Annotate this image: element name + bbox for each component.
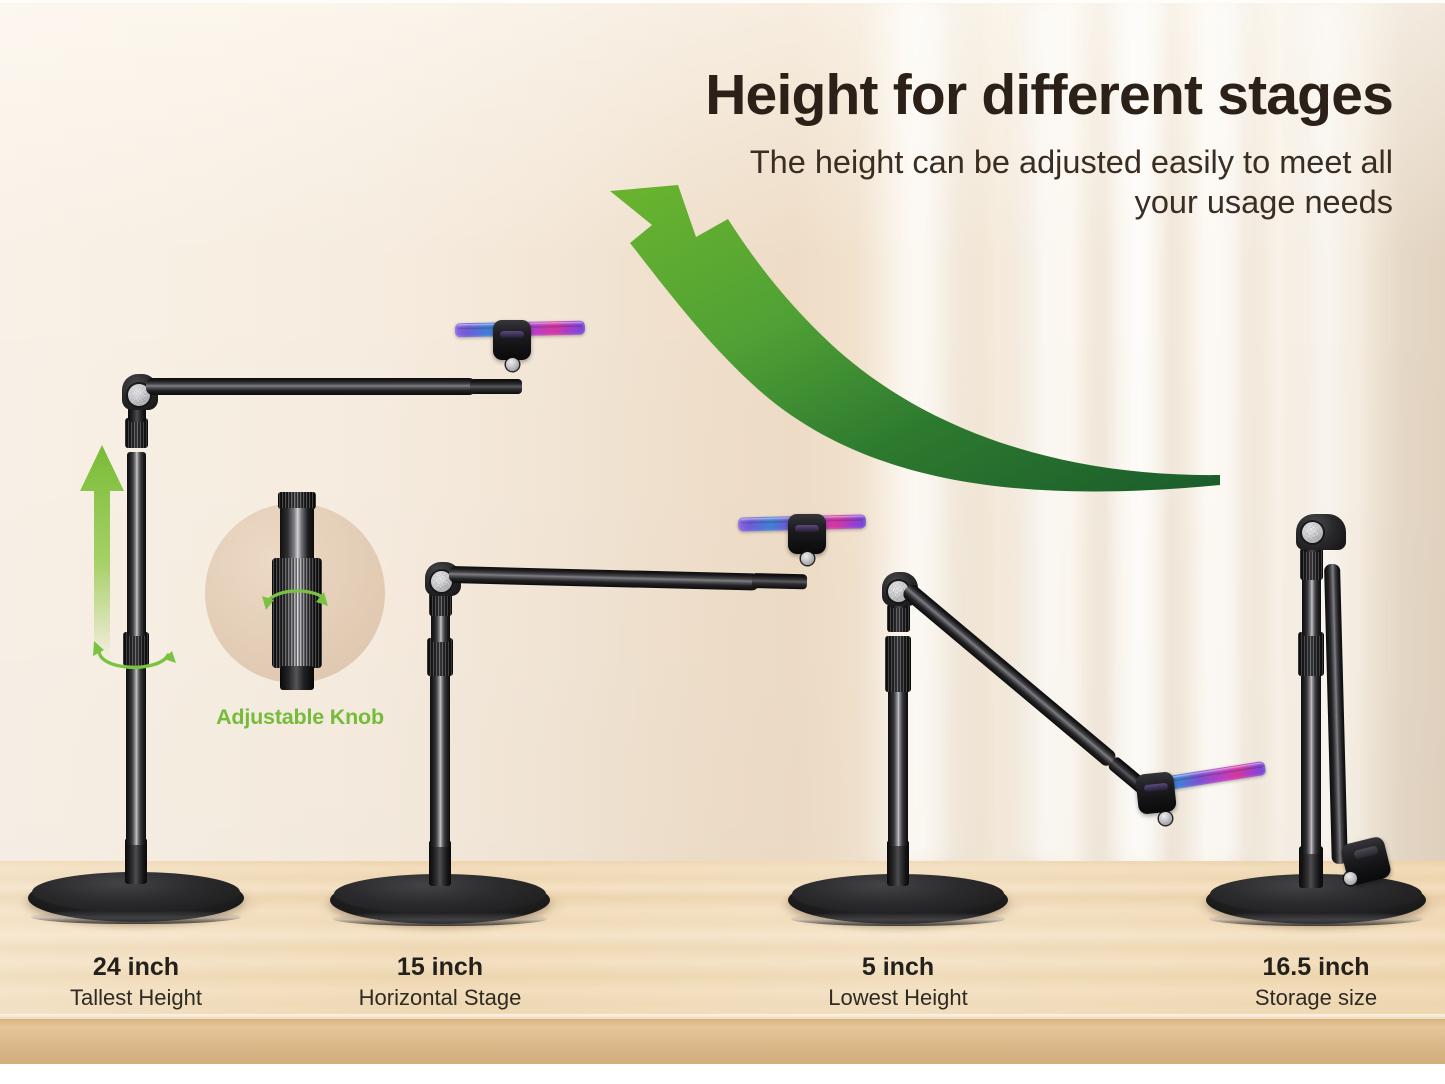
caption-label: Horizontal Stage [340,985,540,1011]
upper-knob[interactable] [125,418,148,448]
upper-knob[interactable] [887,604,910,632]
caption-height: 24 inch [36,953,236,982]
curved-growth-arrow-icon [600,185,1220,570]
caption-storage: 16.5 inch Storage size [1216,953,1416,1011]
caption-height: 5 inch [798,953,998,982]
bottom-margin [0,1064,1445,1084]
clamp-slot [795,525,819,532]
caption-height: 16.5 inch [1216,953,1416,982]
arm-extension [752,573,807,589]
phone-clamp[interactable] [1135,771,1177,815]
phone-clamp[interactable] [788,514,826,554]
pole-lower [430,672,450,847]
pole-lower [1301,672,1321,854]
pole-upper [431,612,450,642]
product-infographic: Height for different stages The height c… [0,0,1445,1084]
knob-callout-label: Adjustable Knob [205,705,395,730]
caption-label: Storage size [1216,985,1416,1011]
pole-upper [1302,576,1321,636]
adjustable-knob[interactable] [885,636,911,692]
adjustable-knob[interactable] [427,638,453,676]
pivot-hub-icon [1302,522,1323,543]
caption-label: Lowest Height [798,985,998,1011]
arm-extension [470,379,522,394]
caption-label: Tallest Height [36,985,236,1011]
clamp-screw[interactable] [1344,872,1357,885]
upper-knob[interactable] [1300,548,1323,580]
caption-lowest: 5 inch Lowest Height [798,953,998,1011]
top-margin [0,0,1445,3]
pole-foot [887,840,909,886]
pole-lower [126,660,146,845]
desk-front-edge [0,1019,1445,1064]
caption-horizontal: 15 inch Horizontal Stage [340,953,540,1011]
caption-tallest: 24 inch Tallest Height [36,953,236,1011]
arm-main [146,378,476,395]
adjustable-knob-illustration [258,486,334,701]
rotation-arrow-icon [88,625,180,679]
adjustable-knob[interactable] [1298,632,1324,676]
caption-height: 15 inch [340,953,540,982]
clamp-screw[interactable] [506,358,519,371]
phone-clamp[interactable] [493,320,531,360]
clamp-screw[interactable] [801,552,814,565]
page-title: Height for different stages [705,66,1393,126]
pole-lower [888,688,908,846]
clamp-slot [500,331,524,338]
clamp-screw[interactable] [1159,812,1172,825]
